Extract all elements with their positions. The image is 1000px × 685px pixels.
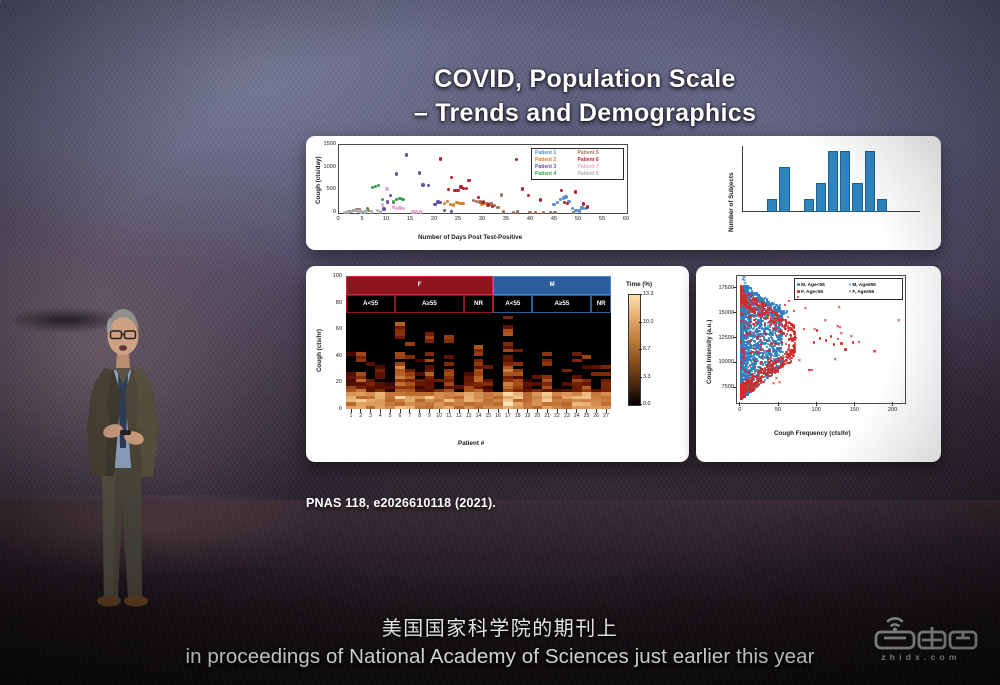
heatmap-cell	[582, 389, 592, 393]
x-tick-mark	[449, 409, 450, 413]
data-point	[395, 172, 398, 175]
heatmap-cell	[572, 392, 582, 396]
data-point-f-young	[740, 366, 742, 368]
heatmap-cell	[385, 399, 395, 403]
data-point	[456, 189, 459, 192]
data-point-f-young	[830, 335, 832, 337]
y-tick-mark	[733, 287, 737, 288]
data-point-f-young	[792, 330, 794, 332]
x-tick: 0	[733, 407, 747, 413]
heatmap-cell	[415, 382, 425, 386]
heatmap-cell	[523, 392, 533, 396]
histogram-bar	[828, 151, 838, 212]
heatmap-cell	[513, 369, 523, 373]
legend-x-marker: ×	[849, 282, 852, 289]
legend-item: Patient 2	[535, 157, 578, 164]
heatmap-cell	[385, 385, 395, 389]
data-point-f-young	[777, 369, 779, 371]
data-point	[439, 157, 442, 160]
data-point-f-young	[788, 300, 790, 302]
data-point-f-young	[746, 332, 748, 334]
data-point-f-young	[740, 305, 742, 307]
heatmap-cell	[395, 329, 405, 333]
heatmap-cell	[601, 395, 611, 399]
data-point-f-young	[740, 398, 742, 400]
heatmap-cell	[375, 372, 385, 376]
data-point-f-young	[852, 341, 854, 343]
x-tick-mark	[351, 409, 352, 413]
heatmap-cell	[542, 375, 552, 379]
data-point-m-young	[745, 356, 747, 358]
heatmap-cell	[601, 402, 611, 406]
heatmap-cell	[503, 389, 513, 393]
heatmap-cell	[356, 402, 366, 406]
data-point-f-young	[759, 349, 761, 351]
heatmap-cell	[366, 379, 376, 383]
heatmap-cell	[572, 395, 582, 399]
heatmap-cell	[356, 399, 366, 403]
heatmap-cell	[474, 395, 484, 399]
legend-item: ×F, Age≥55	[849, 289, 901, 296]
heatmap-cell	[415, 379, 425, 383]
heatmap-cell	[503, 325, 513, 329]
data-point	[566, 202, 569, 205]
x-tick-mark	[409, 409, 410, 413]
data-point-f-young	[785, 320, 787, 322]
zhidx-logo-icon	[862, 614, 980, 652]
histogram-bar	[852, 183, 862, 212]
data-point-f-young	[752, 351, 754, 353]
y-tick: 12500	[712, 335, 734, 341]
heatmap-cell	[444, 395, 454, 399]
heatmap-cell	[395, 365, 405, 369]
data-point-m-young	[772, 303, 774, 305]
heatmap-cell	[425, 379, 435, 383]
heatmap-cell	[552, 389, 562, 393]
heatmap-cell	[444, 402, 454, 406]
x-tick-mark	[419, 409, 420, 413]
data-point-f-young	[794, 351, 796, 353]
heatmap-cell	[503, 359, 513, 363]
heatmap-cell	[454, 392, 464, 396]
data-point-f-young	[748, 387, 750, 389]
heatmap-cell	[542, 385, 552, 389]
y-tick: 500	[320, 186, 336, 192]
heatmap-subgroup-header: NR	[591, 295, 611, 314]
heatmap-cell	[444, 339, 454, 343]
x-tick: 60	[622, 216, 630, 222]
data-point-m-young	[754, 372, 756, 374]
heatmap-cell	[503, 382, 513, 386]
x-tick: 20	[430, 216, 438, 222]
heatmap-cell	[572, 352, 582, 356]
x-tick: 150	[847, 407, 861, 413]
speaker-presenter	[58, 298, 188, 623]
data-point	[421, 183, 424, 186]
data-point-m-young	[763, 342, 765, 344]
heatmap-cell	[513, 349, 523, 353]
data-point-f-young	[744, 326, 746, 328]
heatmap-cell	[503, 316, 513, 320]
presentation-stage: COVID, Population Scale – Trends and Dem…	[0, 0, 1000, 685]
heatmap-cell	[375, 389, 385, 393]
data-point-f-young	[757, 371, 759, 373]
heatmap-cell	[532, 389, 542, 393]
data-point-m-older: ×	[763, 317, 766, 323]
heatmap-cell	[346, 402, 356, 406]
heatmap-cell	[601, 372, 611, 376]
data-point	[553, 211, 556, 214]
figure-card-top: Cough (cts/day) Number of Days Post Test…	[306, 136, 941, 250]
heatmap-cell	[346, 352, 356, 356]
heatmap-cell	[395, 335, 405, 339]
heatmap-cell	[572, 389, 582, 393]
data-point-f-young	[745, 338, 747, 340]
heatmap-cell	[532, 402, 542, 406]
data-point	[415, 210, 418, 213]
data-point-m-young	[772, 350, 774, 352]
heatmap-cell	[375, 365, 385, 369]
data-point-f-young	[761, 356, 763, 358]
data-point-m-young	[782, 313, 784, 315]
heatmap-cell	[483, 379, 493, 383]
data-point-f-young	[763, 312, 765, 314]
heatmap-cell	[523, 402, 533, 406]
heatmap-cell	[503, 329, 513, 333]
heatmap-cell	[474, 362, 484, 366]
heatmap-cell	[542, 389, 552, 393]
heatmap-cell	[572, 375, 582, 379]
data-point-f-young	[785, 343, 787, 345]
legend-label: F, Age≥55	[852, 290, 874, 295]
heatmap-cell	[415, 399, 425, 403]
data-point-m-young	[767, 301, 769, 303]
heatmap-cell	[503, 385, 513, 389]
heatmap-cell	[346, 395, 356, 399]
heatmap-cell	[562, 399, 572, 403]
heatmap-cell	[513, 392, 523, 396]
heatmap-cell	[562, 382, 572, 386]
data-point-m-young	[742, 317, 744, 319]
histogram-bar	[816, 183, 826, 212]
heatmap-cell	[425, 399, 435, 403]
heatmap-subgroup-header: A≥55	[395, 295, 464, 314]
data-point	[450, 176, 453, 179]
data-point	[447, 188, 450, 191]
data-point-f-young	[743, 388, 745, 390]
heatmap-cell	[552, 399, 562, 403]
heatmap-cell	[474, 369, 484, 373]
data-point-f-young	[744, 304, 746, 306]
heatmap-cell	[405, 372, 415, 376]
heatmap-cell	[366, 392, 376, 396]
heatmap-cell	[572, 359, 582, 363]
heatmap-cell	[483, 385, 493, 389]
heatmap-cell	[346, 399, 356, 403]
x-tick-mark	[508, 409, 509, 413]
y-tick: 0	[326, 406, 342, 412]
y-tick: 15000	[712, 310, 734, 316]
heatmap-cell	[444, 335, 454, 339]
heatmap-cell	[503, 392, 513, 396]
data-point-m-young	[740, 376, 742, 378]
heatmap-cell	[483, 382, 493, 386]
heatmap-cell	[503, 375, 513, 379]
data-point-f-older: ×	[761, 335, 764, 341]
heatmap-cell	[591, 395, 601, 399]
data-point-m-young	[787, 316, 789, 318]
histogram-bar	[865, 151, 875, 212]
x-tick-mark	[429, 409, 430, 413]
slide-title-line1: COVID, Population Scale	[240, 62, 930, 96]
heatmap-cell	[483, 402, 493, 406]
data-point-f-young	[784, 324, 786, 326]
data-point	[465, 187, 468, 190]
heatmap-cell	[523, 385, 533, 389]
heatmap-cell	[366, 402, 376, 406]
heatmap-cell	[395, 395, 405, 399]
heatmap-cell	[591, 399, 601, 403]
heatmap-cell	[425, 385, 435, 389]
heatmap-cell	[385, 392, 395, 396]
data-point-m-young	[762, 299, 764, 301]
x-tick-mark	[576, 409, 577, 413]
scatter1-plot-area: Patient 1Patient 5Patient 2Patient 6Pati…	[338, 144, 628, 214]
legend-item: Patient 5	[578, 150, 621, 157]
heatmap-cell	[474, 382, 484, 386]
heatmap-cell	[542, 382, 552, 386]
histogram-bar	[877, 199, 887, 212]
heatmap-cell	[356, 352, 366, 356]
heatmap-cell	[513, 382, 523, 386]
x-tick-mark	[566, 409, 567, 413]
heatmap-cell	[385, 395, 395, 399]
data-point-f-older: ×	[850, 335, 853, 341]
heatmap-cell	[542, 379, 552, 383]
y-tick: 1500	[320, 141, 336, 147]
heatmap-cell	[425, 392, 435, 396]
data-point-f-young	[754, 360, 756, 362]
data-point	[443, 209, 446, 212]
data-point-m-young	[769, 331, 771, 333]
data-point-f-young	[844, 348, 846, 350]
heatmap-cell	[464, 392, 474, 396]
heatmap-cell	[425, 389, 435, 393]
y-tick: 60	[326, 326, 342, 332]
heatmap-cell	[356, 359, 366, 363]
colorbar-tick: 0.0	[643, 401, 651, 407]
x-tick-mark	[380, 409, 381, 413]
heatmap-cell	[474, 385, 484, 389]
data-point	[427, 184, 430, 187]
heatmap-cell	[582, 392, 592, 396]
data-point	[521, 187, 524, 190]
heatmap-cell	[572, 385, 582, 389]
heatmap-cell	[395, 362, 405, 366]
heatmap-cell	[552, 395, 562, 399]
data-point	[381, 198, 384, 201]
data-point-f-older: ×	[836, 325, 839, 331]
data-point-f-young	[840, 342, 842, 344]
data-point-f-young	[833, 343, 835, 345]
heatmap-cell	[425, 352, 435, 356]
data-point-m-young	[749, 369, 751, 371]
heatmap-cell	[425, 395, 435, 399]
heatmap-cell	[532, 375, 542, 379]
heatmap-cell	[572, 399, 582, 403]
hist-y-axis	[742, 146, 743, 212]
data-point-f-young	[743, 359, 745, 361]
data-point-f-young	[740, 313, 742, 315]
heatmap-cell	[434, 395, 444, 399]
heatmap-cell	[582, 382, 592, 386]
heatmap-cell	[434, 402, 444, 406]
y-tick: 0	[320, 209, 336, 215]
colorbar-tick: 6.7	[643, 346, 651, 352]
heatmap-cell	[434, 379, 444, 383]
data-point-f-young	[766, 340, 768, 342]
legend-dot-marker	[797, 283, 800, 286]
heatmap-cell	[542, 359, 552, 363]
heatmap-cell	[415, 385, 425, 389]
heatmap-cell	[425, 335, 435, 339]
heatmap-cell	[405, 369, 415, 373]
data-point-f-young	[793, 326, 795, 328]
heatmap-cell	[483, 392, 493, 396]
colorbar-tick-mark	[639, 404, 642, 405]
data-point-f-young	[819, 337, 821, 339]
heatmap-cell	[444, 369, 454, 373]
heatmap-cell	[444, 379, 454, 383]
heatmap-cell	[493, 402, 503, 406]
slide-title-line2: – Trends and Demographics	[240, 96, 930, 130]
data-point	[572, 211, 575, 214]
watermark-logo: zhidx.com	[862, 614, 980, 666]
heatmap-cell	[346, 385, 356, 389]
x-tick-mark	[468, 409, 469, 413]
heatmap-cell	[474, 365, 484, 369]
data-point	[419, 210, 422, 213]
data-point	[461, 202, 464, 205]
data-point-f-young	[753, 319, 755, 321]
legend-item: Patient 3	[535, 164, 578, 171]
data-point-f-young	[756, 300, 758, 302]
heatmap-cell	[513, 402, 523, 406]
data-point	[377, 184, 380, 187]
heatmap-cell	[385, 382, 395, 386]
x-tick-mark	[517, 409, 518, 413]
heatmap-cell	[444, 389, 454, 393]
data-point-m-young	[744, 348, 746, 350]
data-point	[370, 210, 373, 213]
scatter2-plot-area: M, Age<55×M, Age≥55F, Age<55×F, Age≥55 ×…	[736, 275, 906, 404]
heatmap-cell	[375, 399, 385, 403]
data-point-f-older: ×	[834, 358, 837, 364]
legend-item: Patient 8	[578, 171, 621, 178]
heatmap-cell	[503, 342, 513, 346]
heatmap-cell	[542, 402, 552, 406]
data-point-f-older: ×	[804, 307, 807, 313]
heatmap-cell	[582, 365, 592, 369]
heatmap-cell	[444, 355, 454, 359]
y-tick: 40	[326, 353, 342, 359]
heatmap-plot-area: FMA<55A≥55NRA<55A≥55NR	[346, 276, 611, 409]
colorbar-label: Time (%)	[626, 281, 652, 288]
heatmap-cell	[395, 382, 405, 386]
x-tick-mark	[739, 402, 740, 406]
x-tick: 10	[382, 216, 390, 222]
data-point	[512, 211, 515, 214]
y-tick: 7500	[712, 384, 734, 390]
heatmap-cell	[474, 375, 484, 379]
data-point-m-young	[777, 306, 779, 308]
x-tick-mark	[390, 409, 391, 413]
heatmap-cell	[356, 355, 366, 359]
heatmap-cell	[444, 362, 454, 366]
data-point	[381, 203, 384, 206]
data-point-f-young	[749, 380, 751, 382]
heatmap-cell	[375, 392, 385, 396]
heatmap-cell	[464, 385, 474, 389]
data-point	[516, 210, 519, 213]
data-point-f-young	[763, 309, 765, 311]
data-point-m-young	[745, 314, 747, 316]
x-tick: 35	[502, 216, 510, 222]
x-tick-mark	[778, 402, 779, 406]
y-tick: 100	[326, 273, 342, 279]
x-tick: 45	[550, 216, 558, 222]
data-point-f-young	[760, 372, 762, 374]
heatmap-cell	[582, 395, 592, 399]
heatmap-cell	[591, 389, 601, 393]
x-tick-mark	[586, 409, 587, 413]
heatmap-cell	[415, 402, 425, 406]
data-point-f-young	[749, 340, 751, 342]
y-tick: 80	[326, 300, 342, 306]
colorbar-tick: 3.3	[643, 374, 651, 380]
data-point	[549, 211, 552, 214]
y-tick-mark	[733, 312, 737, 313]
heatmap-cell	[582, 402, 592, 406]
data-point	[467, 179, 470, 182]
data-point-f-young	[777, 367, 779, 369]
data-point-m-young	[755, 343, 757, 345]
heatmap-cell	[444, 392, 454, 396]
heatmap-cell	[385, 389, 395, 393]
heatmap-cell	[503, 355, 513, 359]
heatmap-cell	[601, 365, 611, 369]
hist-ylabel: Number of Subjects	[728, 173, 735, 232]
heatmap-cell	[405, 342, 415, 346]
x-tick: 25	[454, 216, 462, 222]
x-tick-mark	[816, 402, 817, 406]
heatmap-cell	[582, 399, 592, 403]
y-tick-mark	[733, 337, 737, 338]
heatmap-cell	[405, 389, 415, 393]
data-point	[500, 193, 503, 196]
figure-card-heatmap: Cough (cts/hr) Patient # FMA<55A≥55NRA<5…	[306, 266, 689, 462]
data-point-m-young	[747, 337, 749, 339]
heatmap-cell	[591, 365, 601, 369]
heatmap-cell	[542, 362, 552, 366]
heatmap-cell	[483, 365, 493, 369]
heatmap-cell	[346, 382, 356, 386]
data-point-f-young	[741, 292, 743, 294]
data-point-m-young	[745, 329, 747, 331]
legend-x-marker: ×	[849, 289, 852, 296]
data-point	[556, 201, 559, 204]
heatmap-cell	[503, 369, 513, 373]
